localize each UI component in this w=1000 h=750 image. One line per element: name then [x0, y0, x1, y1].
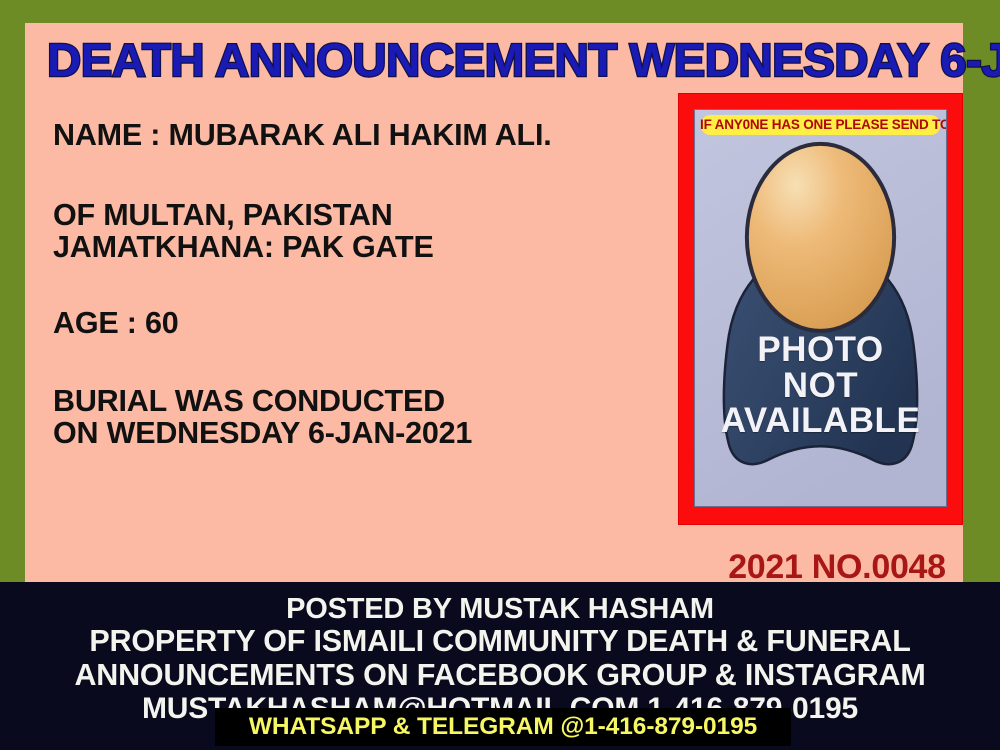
photo-placeholder-frame: IF ANY0NE HAS ONE PLEASE SEND TO US	[678, 93, 963, 525]
whatsapp-contact-strip: WHATSAPP & TELEGRAM @1-416-879-0195	[215, 708, 791, 746]
detail-burial-line-1: BURIAL WAS CONDUCTED	[53, 385, 683, 417]
detail-age: AGE : 60	[53, 307, 683, 339]
pna-line-1: PHOTO	[695, 332, 946, 368]
photo-placeholder-panel: IF ANY0NE HAS ONE PLEASE SEND TO US	[694, 109, 947, 507]
footer-line-announcements: ANNOUNCEMENTS ON FACEBOOK GROUP & INSTAG…	[0, 659, 1000, 693]
spacer	[53, 339, 683, 385]
detail-origin: OF MULTAN, PAKISTAN	[53, 199, 683, 231]
photo-request-banner: IF ANY0NE HAS ONE PLEASE SEND TO US	[700, 115, 941, 135]
detail-name: NAME : MUBARAK ALI HAKIM ALI.	[53, 119, 683, 151]
announcement-card: DEATH ANNOUNCEMENT WEDNESDAY 6-JAN-2021 …	[25, 23, 963, 582]
page-title: DEATH ANNOUNCEMENT WEDNESDAY 6-JAN-2021	[47, 34, 974, 87]
pna-line-2: NOT	[695, 368, 946, 404]
avatar-silhouette-icon	[695, 110, 946, 506]
detail-burial-line-2: ON WEDNESDAY 6-JAN-2021	[53, 417, 683, 449]
footer-line-posted-by: POSTED BY MUSTAK HASHAM	[0, 594, 1000, 625]
detail-jamatkhana: JAMATKHANA: PAK GATE	[53, 231, 683, 263]
footer-line-property: PROPERTY OF ISMAILI COMMUNITY DEATH & FU…	[0, 625, 1000, 659]
death-announcement-poster: DEATH ANNOUNCEMENT WEDNESDAY 6-JAN-2021 …	[0, 0, 1000, 750]
details-block: NAME : MUBARAK ALI HAKIM ALI. OF MULTAN,…	[53, 119, 683, 449]
pna-line-3: AVAILABLE	[695, 403, 946, 439]
whatsapp-contact-text: WHATSAPP & TELEGRAM @1-416-879-0195	[249, 713, 757, 741]
spacer	[53, 263, 683, 307]
photo-not-available-text: PHOTO NOT AVAILABLE	[695, 332, 946, 439]
spacer	[53, 151, 683, 199]
